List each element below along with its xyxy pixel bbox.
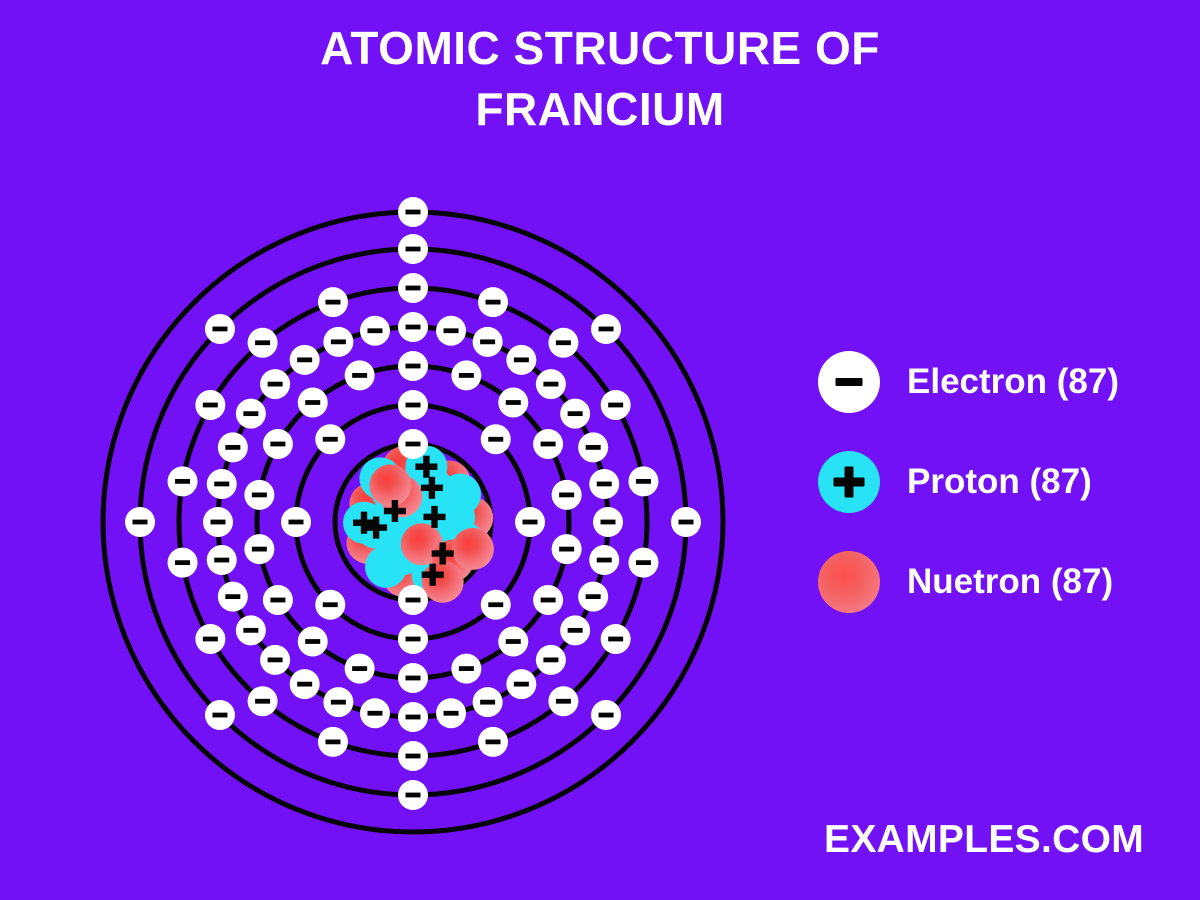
electron-particle — [345, 654, 375, 684]
legend-item-proton: Proton (87) — [818, 432, 1188, 532]
electron-particle — [451, 654, 481, 684]
electron-particle — [398, 780, 428, 810]
electron-particle — [398, 312, 428, 342]
electron-particle — [315, 424, 345, 454]
electron-particle — [203, 507, 233, 537]
electron-particle — [281, 507, 311, 537]
electron-particle — [436, 698, 466, 728]
electron-particle — [248, 328, 278, 358]
electron-particle — [589, 469, 619, 499]
electron-particle — [318, 287, 348, 317]
electron-particle — [298, 627, 328, 657]
electron-particle — [298, 388, 328, 418]
electron-particle — [473, 327, 503, 357]
legend-label-electron: Electron (87) — [907, 362, 1119, 402]
electron-particle — [398, 741, 428, 771]
proton-particle — [365, 546, 407, 588]
electron-particle — [218, 432, 248, 462]
legend-label-neutron: Nuetron (87) — [907, 562, 1113, 602]
electron-particle — [578, 582, 608, 612]
neutron-circle-icon — [818, 551, 880, 613]
electron-particle — [436, 316, 466, 346]
electron-particle — [398, 273, 428, 303]
electron-particle — [548, 328, 578, 358]
electron-particle — [315, 590, 345, 620]
electron-particle — [290, 345, 320, 375]
electron-particle — [260, 369, 290, 399]
electron-particle — [536, 369, 566, 399]
watermark-brand: EXAMPLES.COM — [824, 818, 1144, 862]
electron-particle — [236, 399, 266, 429]
electron-particle — [323, 687, 353, 717]
electron-particle — [260, 645, 290, 675]
electron-particle — [548, 686, 578, 716]
electron-particle — [398, 663, 428, 693]
electron-particle — [195, 624, 225, 654]
atom-diagram — [0, 0, 840, 900]
electron-particle — [398, 585, 428, 615]
electron-particle — [207, 469, 237, 499]
plus-sign-vertical-icon — [845, 467, 854, 498]
neutron-particle — [452, 528, 494, 570]
electron-particle — [218, 582, 248, 612]
electron-particle — [244, 480, 274, 510]
electron-particle — [290, 669, 320, 699]
electron-particle — [671, 507, 701, 537]
electron-particle — [205, 700, 235, 730]
proton-circle-icon — [818, 451, 880, 513]
electron-particle — [195, 390, 225, 420]
electron-particle — [498, 388, 528, 418]
electron-particle — [205, 314, 235, 344]
electron-particle — [628, 548, 658, 578]
legend-label-proton: Proton (87) — [907, 462, 1092, 502]
electron-particle — [263, 429, 293, 459]
electron-particle — [318, 727, 348, 757]
electron-particle — [244, 534, 274, 564]
electron-particle — [360, 698, 390, 728]
electron-particle — [168, 466, 198, 496]
electron-particle — [498, 627, 528, 657]
electron-particle — [398, 702, 428, 732]
electron-particle — [168, 548, 198, 578]
electron-particle — [589, 545, 619, 575]
minus-sign-icon — [836, 378, 863, 386]
electron-particle — [601, 390, 631, 420]
electron-particle — [207, 545, 237, 575]
electron-particle — [263, 585, 293, 615]
electron-particle — [360, 316, 390, 346]
electron-particle — [398, 624, 428, 654]
electron-particle — [515, 507, 545, 537]
electron-particle — [591, 314, 621, 344]
electron-particle — [236, 615, 266, 645]
electron-particle — [628, 466, 658, 496]
atom-diagram-svg — [0, 0, 840, 900]
electron-particle — [552, 480, 582, 510]
electron-particle — [533, 585, 563, 615]
electron-particle — [398, 197, 428, 227]
legend: Electron (87) Proton (87) Nuetron (87) — [818, 332, 1188, 632]
electron-particle — [481, 424, 511, 454]
electron-particle — [345, 360, 375, 390]
electron-particle — [560, 615, 590, 645]
legend-item-electron: Electron (87) — [818, 332, 1188, 432]
electron-particle — [125, 507, 155, 537]
electron-particle — [398, 390, 428, 420]
electron-particle — [398, 429, 428, 459]
electron-particle — [506, 669, 536, 699]
electron-particle — [591, 700, 621, 730]
electron-particle — [506, 345, 536, 375]
electron-particle — [533, 429, 563, 459]
electron-particle — [481, 590, 511, 620]
electron-particle — [323, 327, 353, 357]
electron-particle — [536, 645, 566, 675]
electron-particle — [478, 727, 508, 757]
electron-particle — [552, 534, 582, 564]
neutron-particle — [369, 464, 411, 506]
electron-particle — [593, 507, 623, 537]
electron-particle — [473, 687, 503, 717]
electron-particle — [398, 234, 428, 264]
electron-particle — [578, 432, 608, 462]
electron-particle — [560, 399, 590, 429]
electron-particle — [478, 287, 508, 317]
electron-particle — [601, 624, 631, 654]
electron-particle — [398, 351, 428, 381]
legend-item-neutron: Nuetron (87) — [818, 532, 1188, 632]
proton-particle — [439, 474, 481, 516]
electron-particle — [451, 360, 481, 390]
electron-circle-icon — [818, 351, 880, 413]
neutron-particle — [422, 561, 464, 603]
electron-particle — [248, 686, 278, 716]
atomic-structure-infographic: ATOMIC STRUCTURE OF FRANCIUM Electron (8… — [0, 0, 1200, 900]
